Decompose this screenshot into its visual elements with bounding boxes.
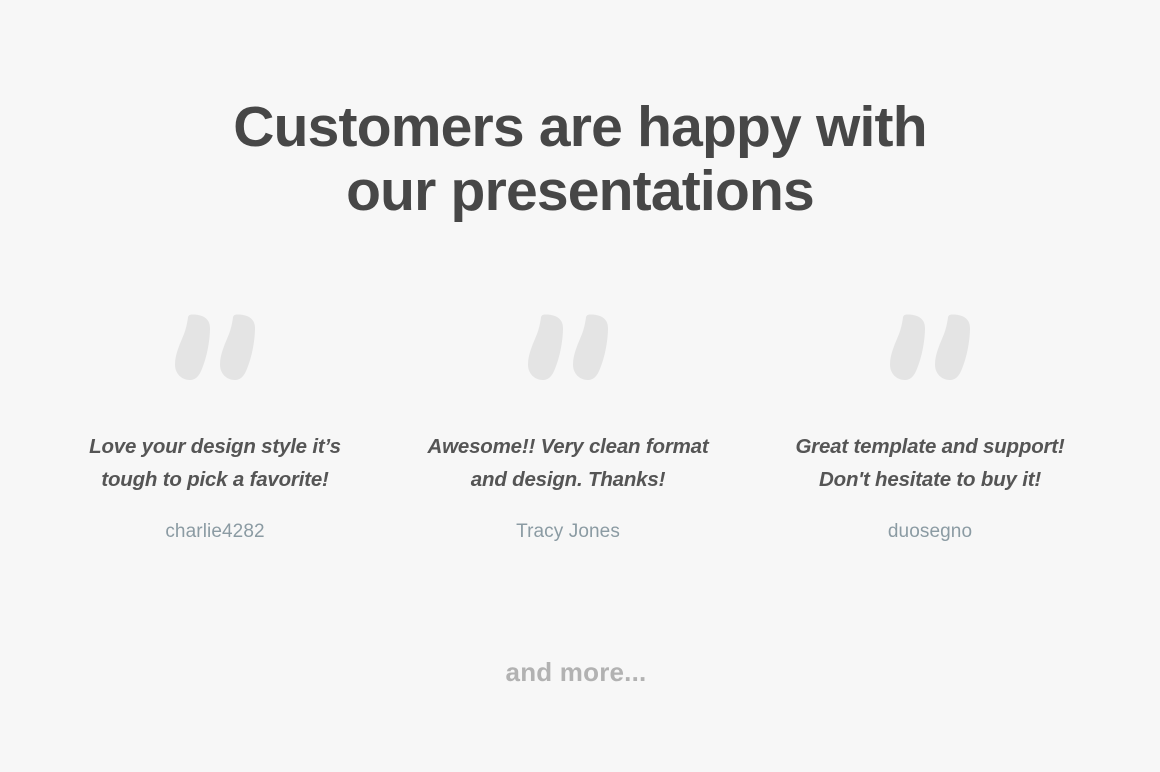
testimonial-author: duosegno <box>770 520 1090 544</box>
testimonial-list: Love your design style it’s tough to pic… <box>0 300 1160 550</box>
testimonial-author: Tracy Jones <box>408 520 728 544</box>
testimonial-quote: Awesome!! Very clean format and design. … <box>408 430 728 496</box>
and-more-note: and more... <box>0 655 1152 689</box>
left-double-quotation-mark-icon <box>55 314 375 406</box>
testimonial-quote-line-2: and design. Thanks! <box>471 468 665 491</box>
testimonial-item: Great template and support! Don't hesita… <box>770 300 1090 544</box>
testimonial-quote-line-2: Don't hesitate to buy it! <box>819 468 1041 491</box>
left-double-quotation-mark-icon <box>408 314 728 406</box>
page-title-line-2: our presentations <box>0 159 1160 223</box>
page-title-line-1: Customers are happy with <box>0 95 1160 159</box>
testimonial-quote-line-2: tough to pick a favorite! <box>101 468 328 491</box>
testimonial-item: Awesome!! Very clean format and design. … <box>408 300 728 544</box>
testimonial-quote-line-1: Awesome!! Very clean format <box>428 435 709 458</box>
page-title: Customers are happy with our presentatio… <box>0 95 1160 223</box>
testimonial-quote: Love your design style it’s tough to pic… <box>55 430 375 496</box>
testimonial-author: charlie4282 <box>55 520 375 544</box>
testimonial-quote: Great template and support! Don't hesita… <box>770 430 1090 496</box>
testimonial-quote-line-1: Love your design style it’s <box>89 435 341 458</box>
testimonial-quote-line-1: Great template and support! <box>795 435 1064 458</box>
testimonials-slide: Customers are happy with our presentatio… <box>0 0 1160 772</box>
left-double-quotation-mark-icon <box>770 314 1090 406</box>
testimonial-item: Love your design style it’s tough to pic… <box>55 300 375 544</box>
